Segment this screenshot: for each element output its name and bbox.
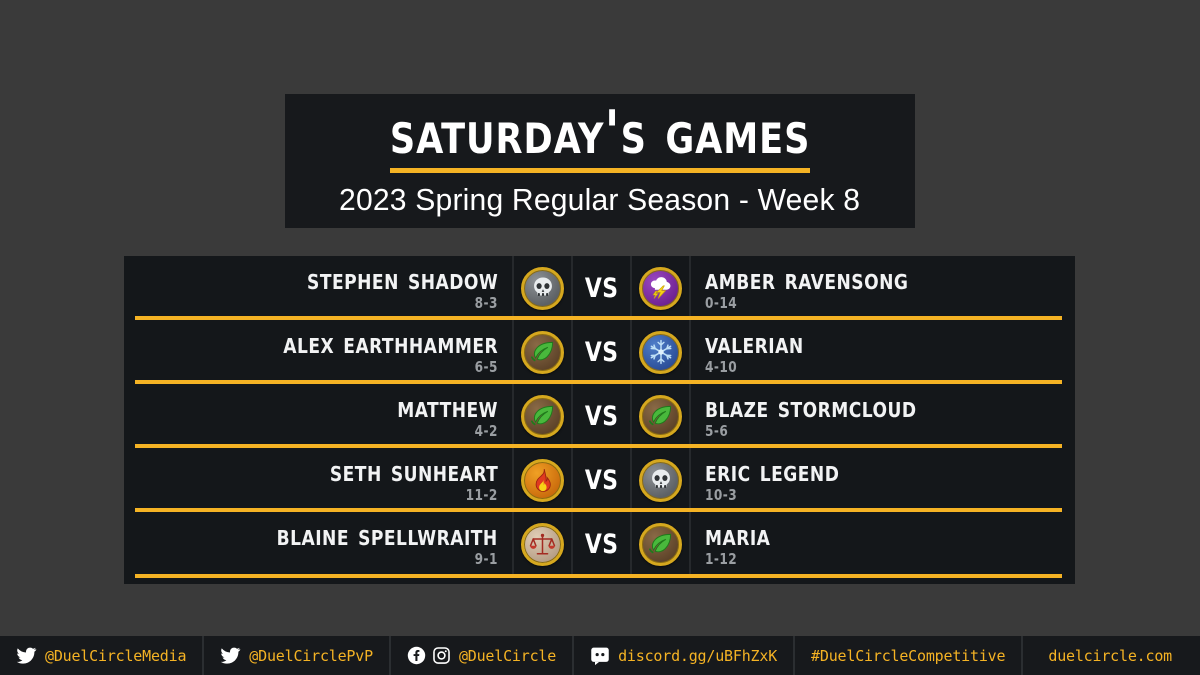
row-divider (135, 316, 1062, 320)
player-record: 5-6 (705, 423, 728, 440)
player-record: 0-14 (705, 295, 737, 312)
skull-icon (521, 267, 564, 310)
footer-item[interactable]: #DuelCircleCompetitive (795, 636, 1023, 675)
player-name: Eric Legend (705, 456, 839, 486)
left-player: Stephen Shadow8-3 (124, 256, 512, 320)
storm-cloud-icon (639, 267, 682, 310)
left-player: Blaine Spellwraith9-1 (124, 512, 512, 576)
right-school-icon-cell (630, 320, 691, 384)
player-record: 10-3 (705, 487, 737, 504)
player-name: Maria (705, 520, 770, 550)
page-title: Saturday's Games (390, 100, 810, 166)
footer-item[interactable]: @DuelCircleMedia (0, 636, 204, 675)
footer-label: @DuelCircle (459, 647, 556, 665)
right-player: Valerian4-10 (691, 320, 1075, 384)
vs-cell: VS (573, 384, 630, 448)
row-divider (135, 380, 1062, 384)
player-name: Valerian (705, 328, 804, 358)
footer-item[interactable]: duelcircle.com (1032, 636, 1200, 675)
twitter-icon (16, 645, 37, 666)
footer-label: @DuelCirclePvP (249, 647, 373, 665)
facebook-icon[interactable] (407, 646, 426, 665)
right-player: Blaze Stormcloud5-6 (691, 384, 1075, 448)
page-subtitle: 2023 Spring Regular Season - Week 8 (339, 182, 860, 218)
row-divider (135, 508, 1062, 512)
right-player: Amber Ravensong0-14 (691, 256, 1075, 320)
vs-cell: VS (573, 256, 630, 320)
player-name: Seth Sunheart (330, 456, 498, 486)
leaf-icon (521, 395, 564, 438)
snowflake-icon (639, 331, 682, 374)
player-name: Stephen Shadow (307, 264, 498, 294)
player-name: Amber Ravensong (705, 264, 908, 294)
title-underline (390, 168, 810, 173)
right-player: Eric Legend10-3 (691, 448, 1075, 512)
match-row: Matthew4-2VSBlaze Stormcloud5-6 (124, 384, 1075, 448)
vs-label: VS (585, 275, 619, 302)
left-school-icon-cell (512, 384, 573, 448)
footer-label: discord.gg/uBFhZxK (618, 647, 777, 665)
instagram-icon[interactable] (432, 646, 451, 665)
leaf-icon (639, 395, 682, 438)
footer-item[interactable]: @DuelCirclePvP (204, 636, 391, 675)
player-record: 1-12 (705, 551, 737, 568)
footer-item[interactable]: discord.gg/uBFhZxK (574, 636, 795, 675)
player-record: 4-2 (475, 423, 498, 440)
left-school-icon-cell (512, 512, 573, 576)
left-player: Seth Sunheart11-2 (124, 448, 512, 512)
vs-cell: VS (573, 448, 630, 512)
left-school-icon-cell (512, 448, 573, 512)
skull-icon (639, 459, 682, 502)
footer-bar: @DuelCircleMedia@DuelCirclePvP@DuelCircl… (0, 636, 1200, 675)
flame-icon (521, 459, 564, 502)
leaf-icon (639, 523, 682, 566)
footer-label: #DuelCircleCompetitive (811, 647, 1005, 665)
match-row: Seth Sunheart11-2VSEric Legend10-3 (124, 448, 1075, 512)
right-school-icon-cell (630, 384, 691, 448)
player-name: Matthew (397, 392, 498, 422)
left-player: Matthew4-2 (124, 384, 512, 448)
vs-label: VS (585, 403, 619, 430)
left-player: Alex Earthhammer6-5 (124, 320, 512, 384)
facebook-instagram-icons (407, 646, 451, 665)
footer-item[interactable]: @DuelCircle (391, 636, 574, 675)
match-list: Stephen Shadow8-3VSAmber Ravensong0-14Al… (124, 256, 1075, 584)
left-school-icon-cell (512, 256, 573, 320)
right-school-icon-cell (630, 448, 691, 512)
footer-label: duelcircle.com (1048, 647, 1172, 665)
player-record: 9-1 (475, 551, 498, 568)
leaf-icon (521, 331, 564, 374)
title-block: Saturday's Games 2023 Spring Regular Sea… (285, 94, 915, 228)
player-name: Blaze Stormcloud (705, 392, 916, 422)
vs-label: VS (585, 467, 619, 494)
player-record: 6-5 (475, 359, 498, 376)
player-record: 11-2 (466, 487, 498, 504)
match-row: Alex Earthhammer6-5VSValerian4-10 (124, 320, 1075, 384)
player-record: 8-3 (475, 295, 498, 312)
discord-icon (590, 646, 610, 666)
left-school-icon-cell (512, 320, 573, 384)
vs-cell: VS (573, 320, 630, 384)
match-row: Blaine Spellwraith9-1VSMaria1-12 (124, 512, 1075, 576)
right-player: Maria1-12 (691, 512, 1075, 576)
vs-cell: VS (573, 512, 630, 576)
match-row: Stephen Shadow8-3VSAmber Ravensong0-14 (124, 256, 1075, 320)
row-divider (135, 574, 1062, 578)
player-name: Alex Earthhammer (283, 328, 498, 358)
scales-icon (521, 523, 564, 566)
player-name: Blaine Spellwraith (277, 520, 498, 550)
right-school-icon-cell (630, 256, 691, 320)
vs-label: VS (585, 531, 619, 558)
player-record: 4-10 (705, 359, 737, 376)
vs-label: VS (585, 339, 619, 366)
right-school-icon-cell (630, 512, 691, 576)
row-divider (135, 444, 1062, 448)
twitter-icon (220, 645, 241, 666)
footer-label: @DuelCircleMedia (45, 647, 186, 665)
